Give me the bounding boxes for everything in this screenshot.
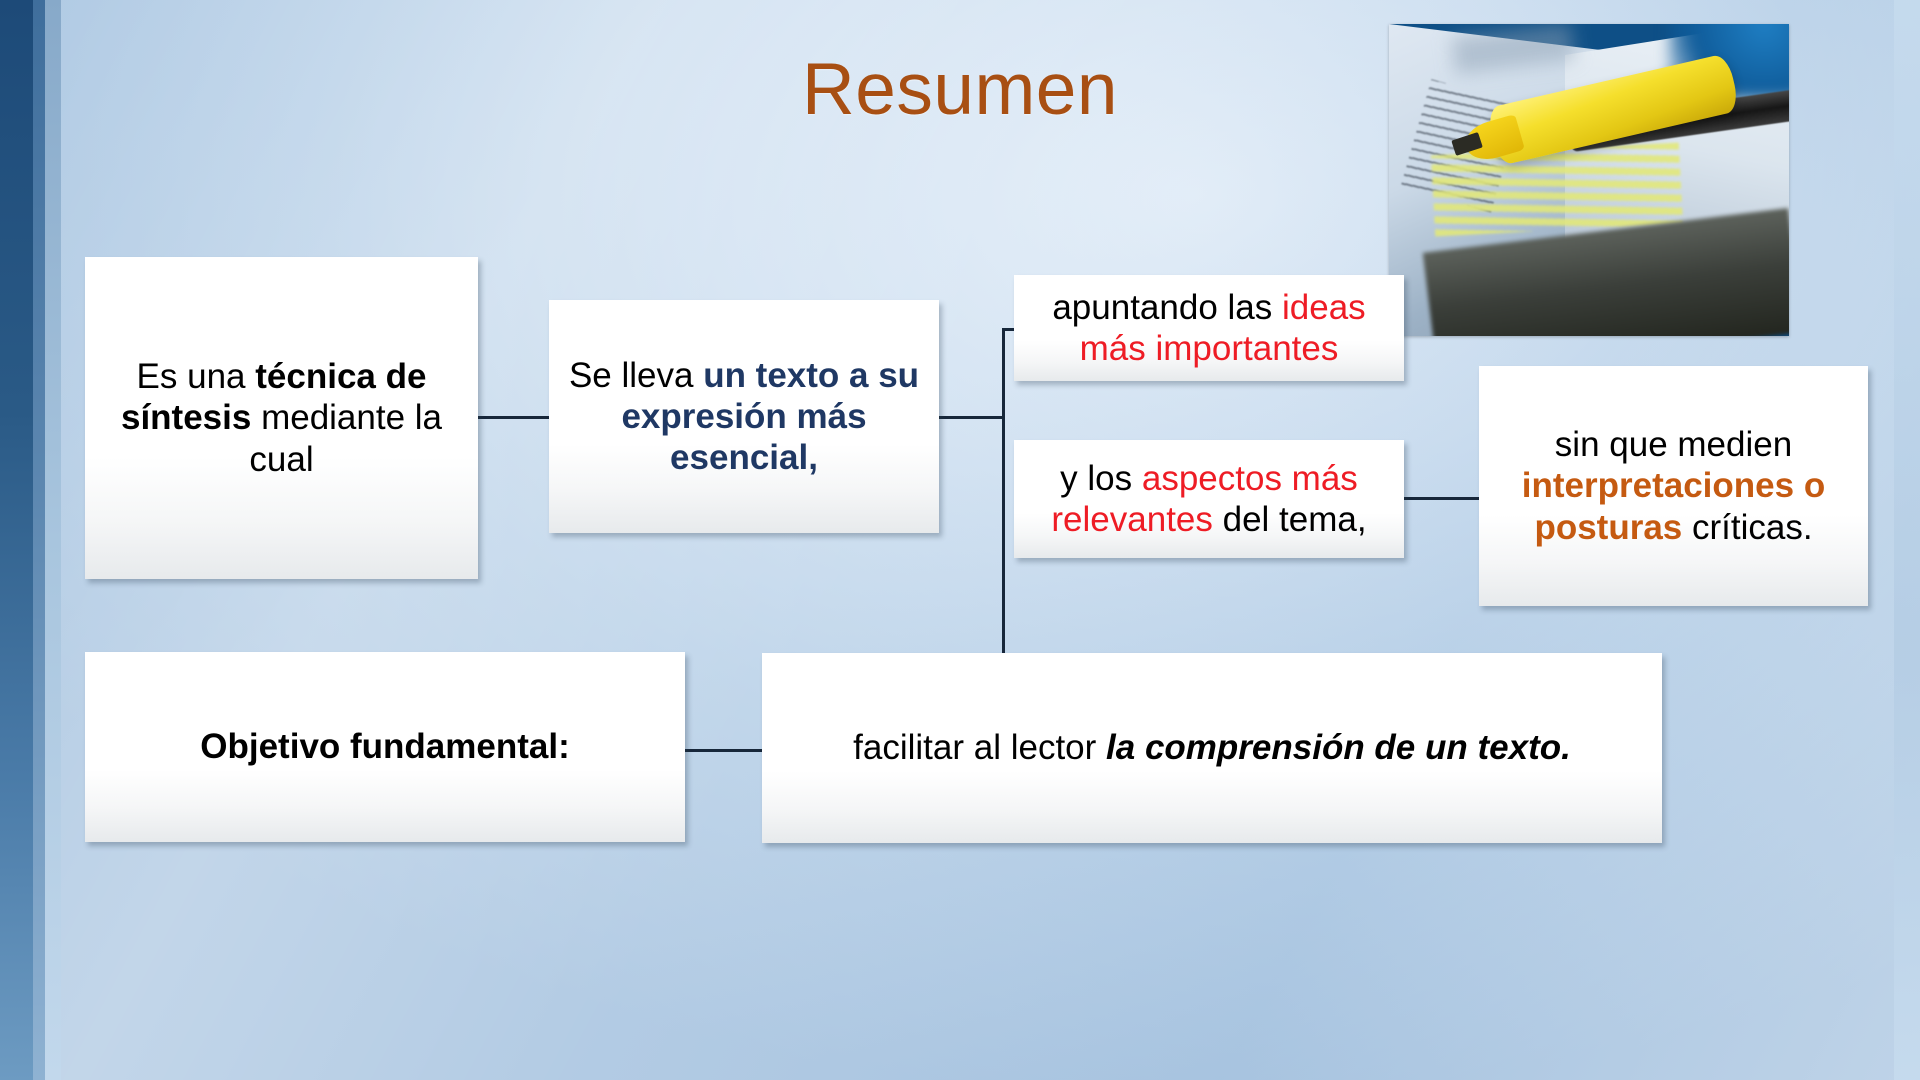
highlighted-text-lines — [1431, 142, 1683, 236]
box-facilitar-comprension[interactable]: facilitar al lector la comprensión de un… — [762, 653, 1662, 843]
connector-objetivo-to-facilitar — [685, 749, 763, 752]
box-facilitar-text: facilitar al lector la comprensión de un… — [853, 727, 1571, 768]
box-ideas-text: apuntando las ideas más importantes — [1028, 287, 1390, 370]
slide-canvas: Resumen Es una técnica de síntesis media… — [0, 0, 1920, 1080]
box-objetivo-fundamental[interactable]: Objetivo fundamental: — [85, 652, 685, 842]
right-edge-band — [1894, 0, 1920, 1080]
box-aspectos-mas-relevantes[interactable]: y los aspectos más relevantes del tema, — [1014, 440, 1404, 558]
left-edge-band-light — [45, 0, 61, 1080]
box-sin-interpretaciones[interactable]: sin que medien interpretaciones o postur… — [1479, 366, 1868, 606]
connector-tecnica-to-texto — [478, 416, 550, 419]
connector-aspectos-to-sinque — [1404, 497, 1480, 500]
box-ideas-mas-importantes[interactable]: apuntando las ideas más importantes — [1014, 275, 1404, 381]
box-sinque-text: sin que medien interpretaciones o postur… — [1493, 424, 1854, 548]
box-aspectos-text: y los aspectos más relevantes del tema, — [1028, 458, 1390, 541]
box-texto-text: Se lleva un texto a su expresión más ese… — [563, 355, 925, 479]
left-edge-band-dark — [0, 0, 33, 1080]
box-tecnica-text: Es una técnica de síntesis mediante la c… — [99, 356, 464, 480]
left-edge-band-mid — [33, 0, 45, 1080]
highlighter-book-photo — [1389, 24, 1789, 336]
connector-texto-stub — [939, 416, 1005, 419]
box-objetivo-text: Objetivo fundamental: — [200, 726, 569, 767]
box-tecnica-de-sintesis[interactable]: Es una técnica de síntesis mediante la c… — [85, 257, 478, 579]
box-expresion-esencial[interactable]: Se lleva un texto a su expresión más ese… — [549, 300, 939, 533]
